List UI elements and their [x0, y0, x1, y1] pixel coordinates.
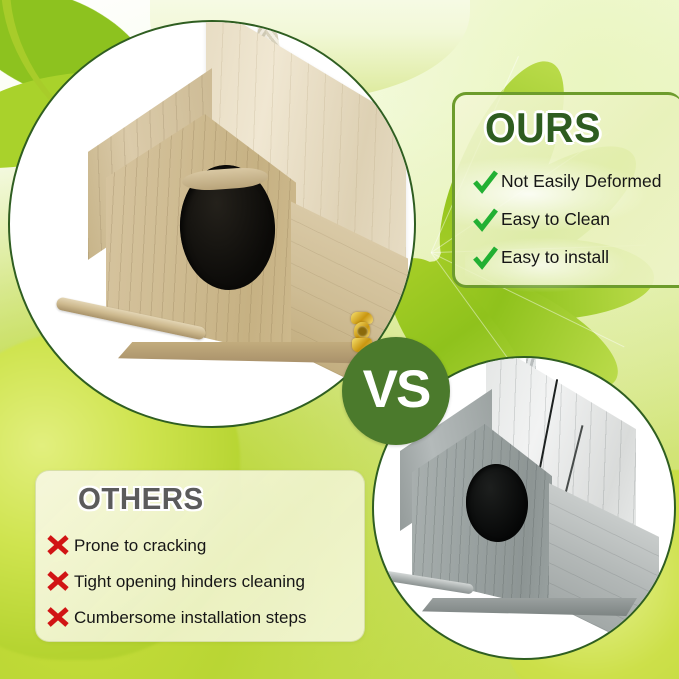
others-panel: OTHERS Prone to cracking — [35, 470, 365, 642]
check-icon — [471, 206, 499, 234]
ours-title: OURS — [485, 107, 601, 149]
others-feature-list: Prone to cracking Tight opening hinders … — [36, 527, 364, 635]
list-item: Easy to install — [455, 239, 679, 277]
gray-base-board — [422, 598, 637, 616]
check-icon — [471, 244, 499, 272]
list-item: Not Easily Deformed — [455, 163, 679, 201]
list-item-label: Tight opening hinders cleaning — [74, 573, 305, 590]
list-item: Easy to Clean — [455, 201, 679, 239]
gray-side-wall — [549, 483, 659, 657]
ours-panel: OURS Not Easily Deformed Easy to Clean E… — [452, 92, 679, 288]
cross-icon — [44, 603, 72, 631]
check-icon — [471, 168, 499, 196]
list-item-label: Prone to cracking — [74, 537, 206, 554]
comparison-infographic: VS OURS Not Easily Deformed Easy to Clea… — [0, 0, 679, 679]
others-title: OTHERS — [78, 483, 204, 514]
list-item-label: Cumbersome installation steps — [74, 609, 306, 626]
cross-icon — [44, 531, 72, 559]
list-item: Cumbersome installation steps — [36, 599, 364, 635]
list-item: Tight opening hinders cleaning — [36, 563, 364, 599]
list-item-label: Easy to Clean — [501, 211, 610, 229]
vs-badge: VS — [342, 337, 450, 445]
list-item-label: Not Easily Deformed — [501, 173, 661, 191]
cross-icon — [44, 567, 72, 595]
vs-label: VS — [363, 363, 430, 416]
ours-feature-list: Not Easily Deformed Easy to Clean Easy t… — [455, 163, 679, 277]
list-item: Prone to cracking — [36, 527, 364, 563]
list-item-label: Easy to install — [501, 249, 609, 267]
